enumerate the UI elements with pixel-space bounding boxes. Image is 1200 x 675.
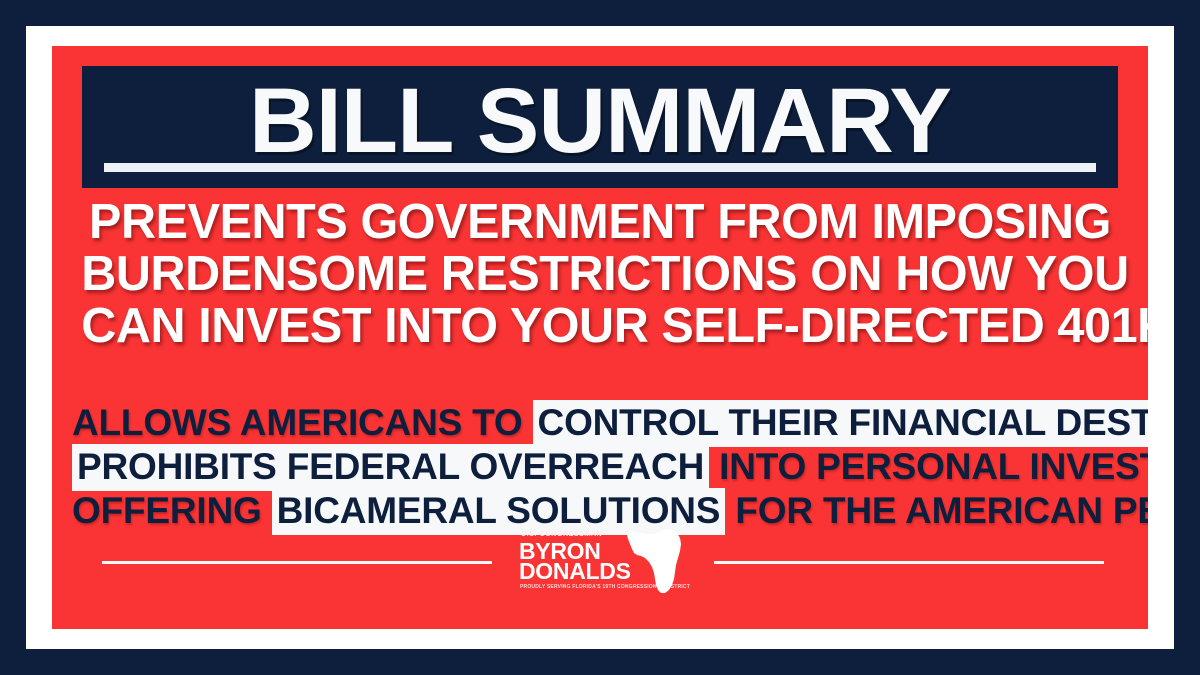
florida-state-icon bbox=[625, 525, 687, 595]
byron-donalds-logo: U.S. CONGRESSMAN BYRON DONALDS PROUDLY S… bbox=[511, 523, 689, 597]
subline-1-highlight: CONTROL THEIR FINANCIAL DESTINY bbox=[533, 400, 1148, 447]
page-title: BILL SUMMARY bbox=[72, 70, 1129, 172]
headline-block: PREVENTS GOVERNMENT FROM IMPOSING BURDEN… bbox=[76, 196, 1124, 352]
subline-1: ALLOWS AMERICANS TO CONTROL THEIR FINANC… bbox=[72, 401, 1128, 445]
headline-line-3: CAN INVEST INTO YOUR SELF-DIRECTED 401K bbox=[81, 300, 1119, 352]
title-banner: BILL SUMMARY bbox=[82, 66, 1118, 188]
title-underline-rule bbox=[104, 163, 1096, 172]
logo-name-last: DONALDS bbox=[519, 561, 631, 582]
footer-logo-row: U.S. CONGRESSMAN BYRON DONALDS PROUDLY S… bbox=[52, 523, 1148, 601]
footer-rule-left bbox=[102, 561, 492, 564]
subline-2: PROHIBITS FEDERAL OVERREACH INTO PERSONA… bbox=[72, 445, 1128, 489]
logo-eyebrow: U.S. CONGRESSMAN bbox=[521, 531, 602, 538]
subline-1-pre: ALLOWS AMERICANS TO bbox=[72, 402, 533, 443]
subline-block: ALLOWS AMERICANS TO CONTROL THEIR FINANC… bbox=[72, 401, 1128, 533]
bill-summary-graphic: BILL SUMMARY PREVENTS GOVERNMENT FROM IM… bbox=[0, 0, 1200, 675]
headline-line-1: PREVENTS GOVERNMENT FROM IMPOSING bbox=[81, 196, 1119, 248]
red-content-panel: BILL SUMMARY PREVENTS GOVERNMENT FROM IM… bbox=[52, 46, 1148, 629]
headline-line-2: BURDENSOME RESTRICTIONS ON HOW YOU bbox=[81, 248, 1119, 300]
subline-2-post: INTO PERSONAL INVESTMENTS bbox=[709, 446, 1148, 487]
footer-rule-right bbox=[714, 561, 1104, 564]
subline-2-highlight: PROHIBITS FEDERAL OVERREACH bbox=[72, 444, 709, 491]
